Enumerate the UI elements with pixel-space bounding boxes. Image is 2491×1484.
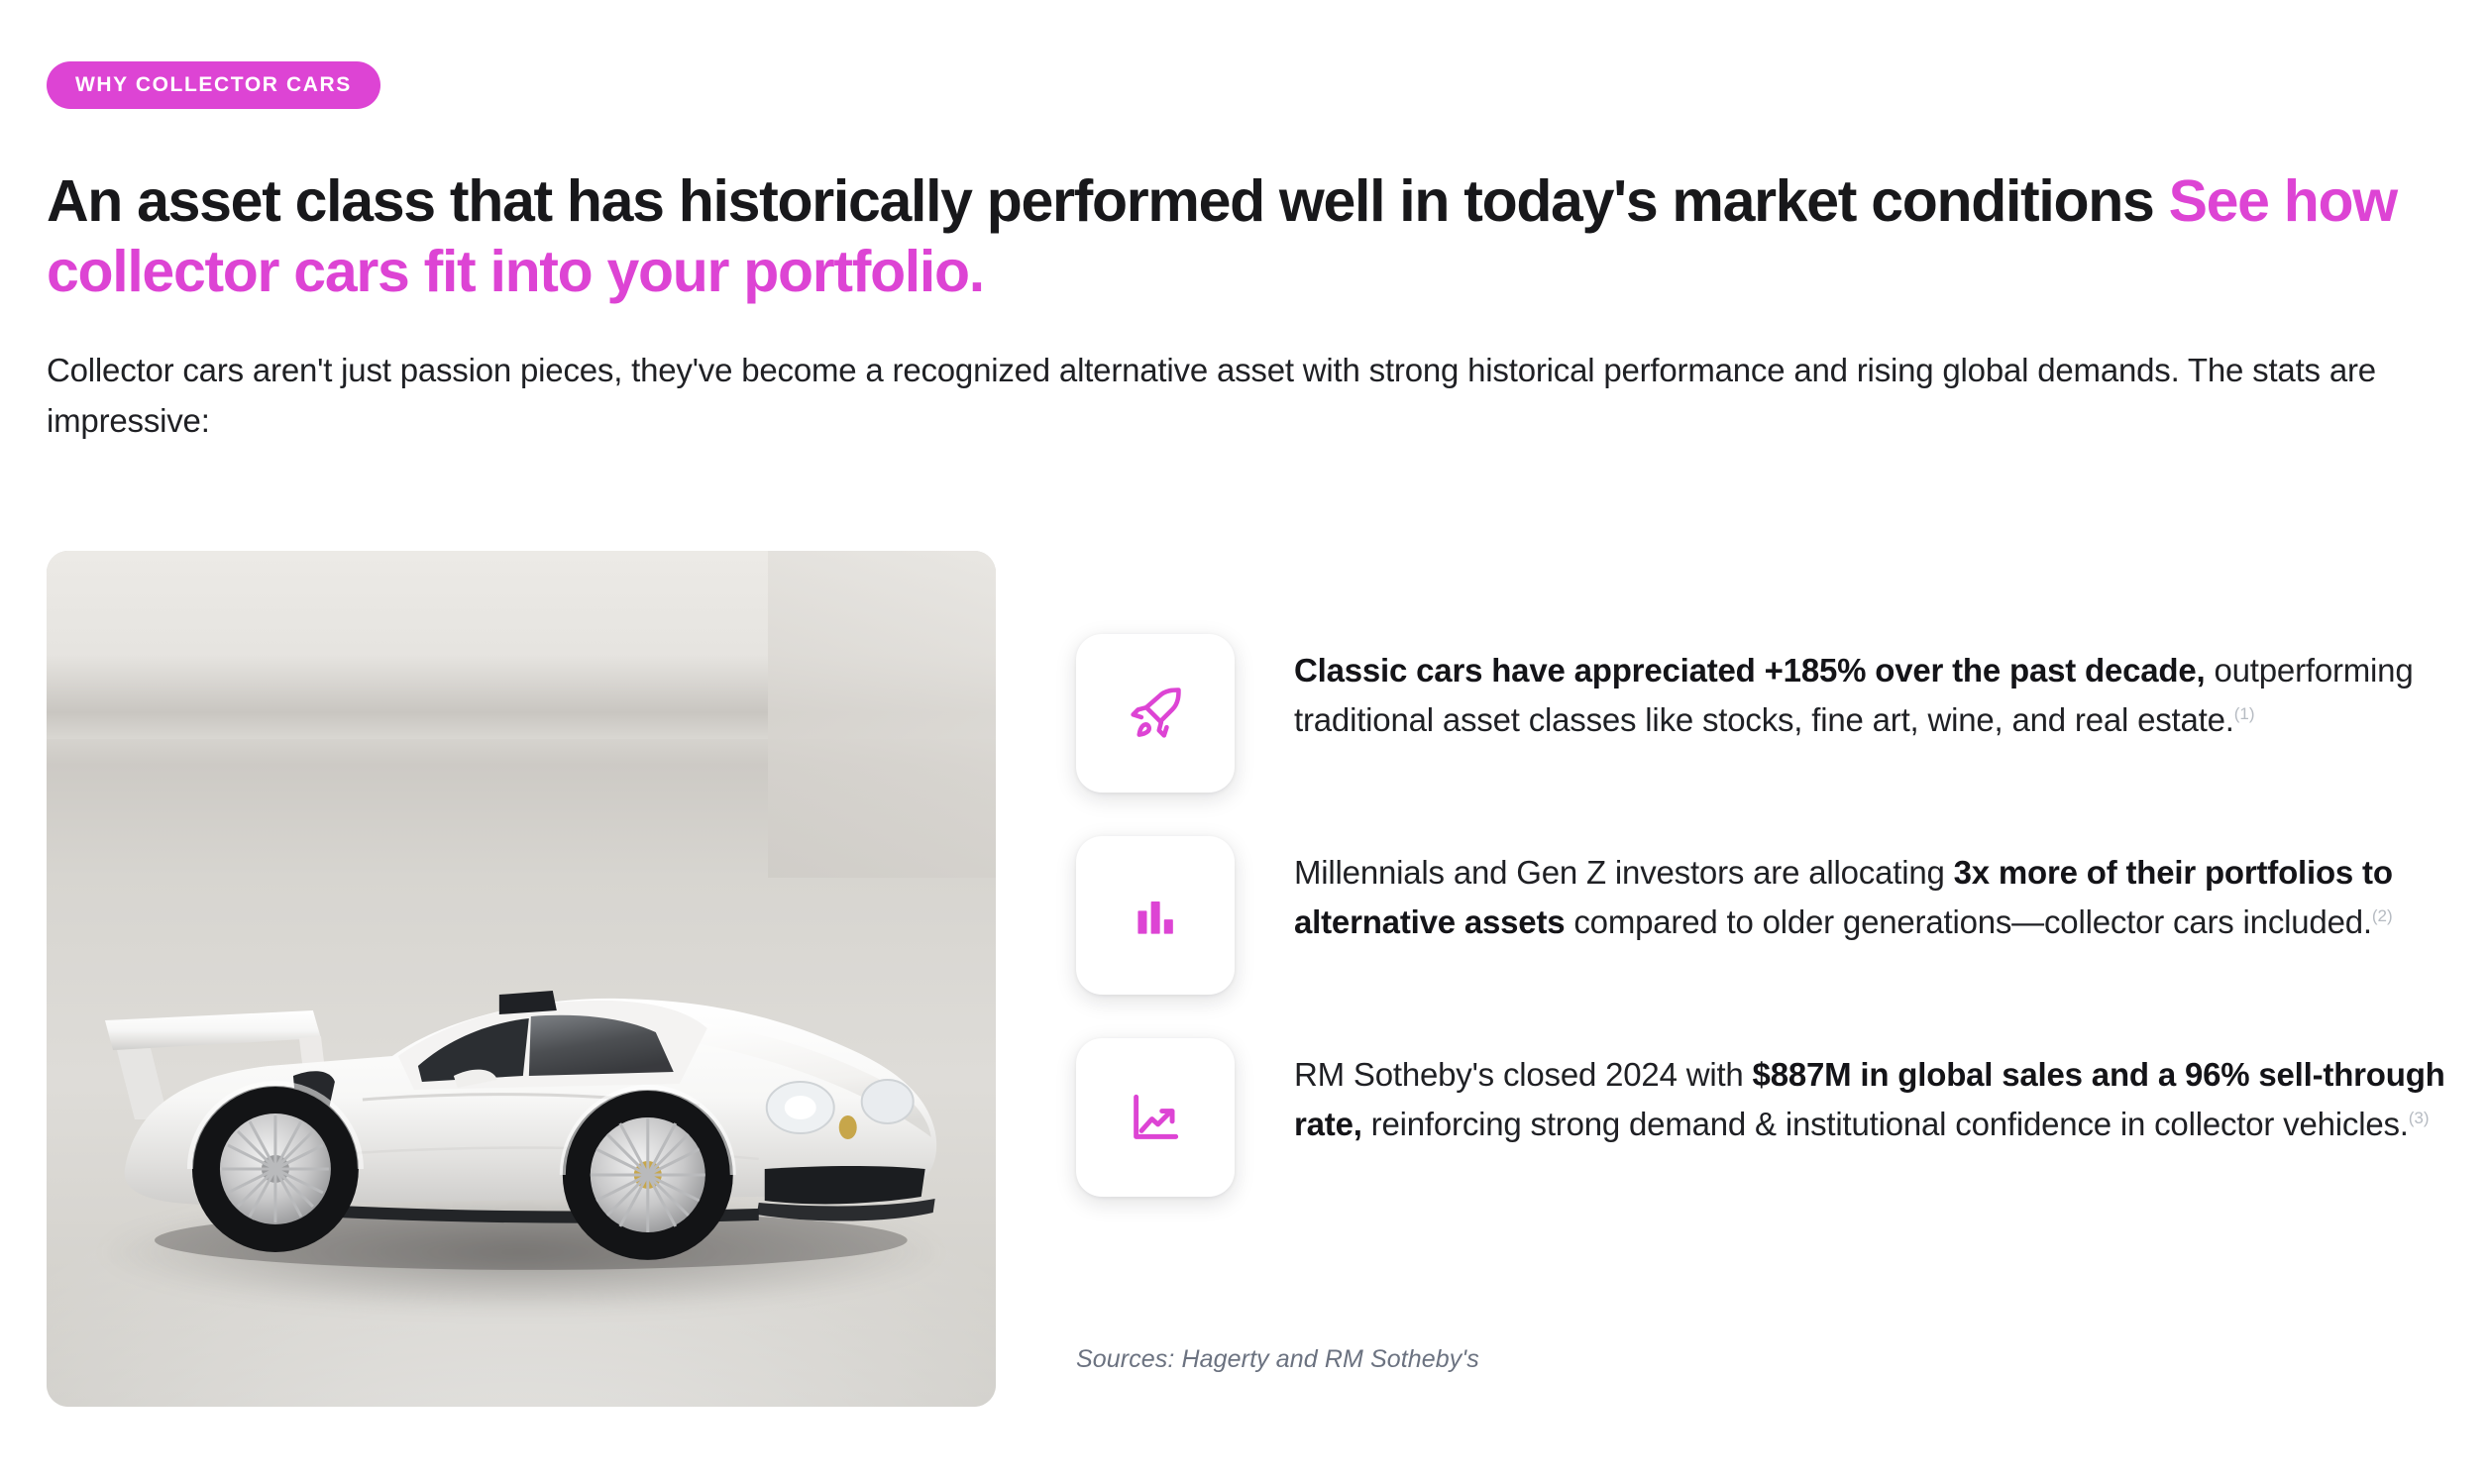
trending-up-chart-icon: [1125, 1087, 1186, 1148]
stat-icon-tile: [1076, 634, 1235, 793]
stat-prefix: Millennials and Gen Z investors are allo…: [1294, 854, 1954, 891]
lead-paragraph: Collector cars aren't just passion piece…: [47, 345, 2454, 446]
stat-footnote-marker: (2): [2372, 906, 2393, 925]
stat-rest: compared to older generations—collector …: [1565, 903, 2371, 940]
why-collector-cars-section: WHY COLLECTOR CARS An asset class that h…: [0, 0, 2491, 1484]
bar-chart-icon: [1125, 885, 1186, 946]
eyebrow-badge-row: WHY COLLECTOR CARS: [47, 61, 380, 109]
collector-car-illustration: [65, 872, 977, 1288]
stat-text: Millennials and Gen Z investors are allo…: [1294, 836, 2453, 948]
headline-primary-text: An asset class that has historically per…: [47, 168, 2169, 234]
stat-rest: reinforcing strong demand & institutiona…: [1362, 1106, 2409, 1142]
rocket-icon: [1124, 682, 1187, 745]
stat-text: RM Sotheby's closed 2024 with $887M in g…: [1294, 1038, 2453, 1150]
eyebrow-badge: WHY COLLECTOR CARS: [47, 61, 380, 109]
stat-item: RM Sotheby's closed 2024 with $887M in g…: [1076, 1038, 2453, 1197]
stat-icon-tile: [1076, 1038, 1235, 1197]
stat-item: Classic cars have appreciated +185% over…: [1076, 634, 2453, 793]
stat-prefix: RM Sotheby's closed 2024 with: [1294, 1056, 1753, 1093]
studio-corner-light: [768, 551, 996, 878]
stat-text: Classic cars have appreciated +185% over…: [1294, 634, 2453, 746]
stat-item: Millennials and Gen Z investors are allo…: [1076, 836, 2453, 995]
sources-note: Sources: Hagerty and RM Sotheby's: [1076, 1345, 1479, 1374]
stat-icon-tile: [1076, 836, 1235, 995]
stat-bold-lead: Classic cars have appreciated +185% over…: [1294, 652, 2206, 689]
page-title: An asset class that has historically per…: [47, 166, 2444, 307]
stats-list: Classic cars have appreciated +185% over…: [1076, 634, 2453, 1240]
stat-footnote-marker: (1): [2234, 704, 2255, 723]
stat-footnote-marker: (3): [2409, 1109, 2430, 1127]
collector-car-image-card: [47, 551, 996, 1407]
